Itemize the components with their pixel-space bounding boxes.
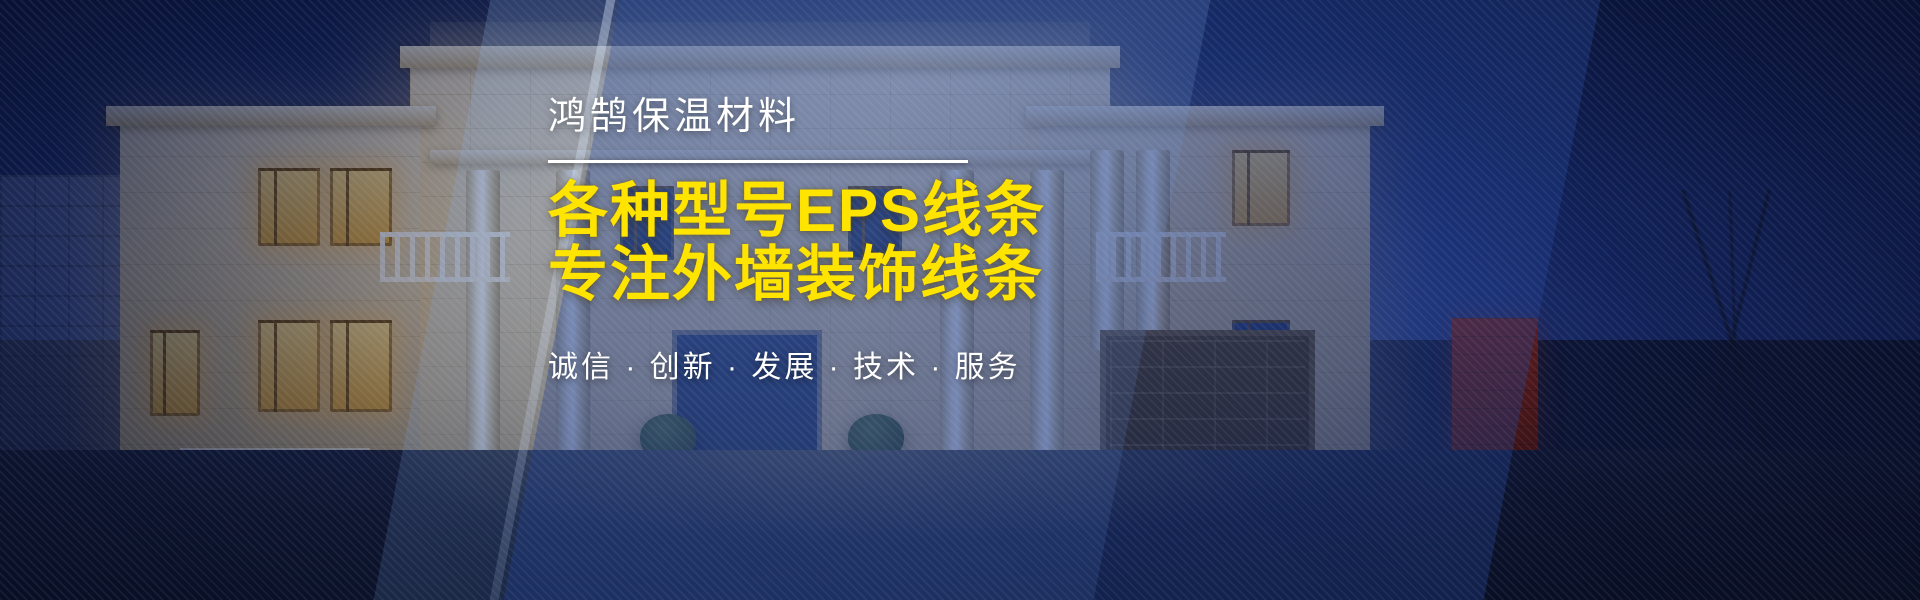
- promo-banner: 鸿鹄保温材料 各种型号EPS线条 专注外墙装饰线条 诚信 · 创新 · 发展 ·…: [0, 0, 1920, 600]
- divider-rule: [548, 160, 968, 163]
- tagline: 诚信 · 创新 · 发展 · 技术 · 服务: [548, 342, 1228, 386]
- banner-copy-block: 鸿鹄保温材料 各种型号EPS线条 专注外墙装饰线条 诚信 · 创新 · 发展 ·…: [548, 96, 1228, 386]
- brand-name: 鸿鹄保温材料: [548, 96, 1228, 140]
- headline-line-2: 专注外墙装饰线条: [548, 243, 1228, 308]
- headline-line-1: 各种型号EPS线条: [548, 179, 1228, 244]
